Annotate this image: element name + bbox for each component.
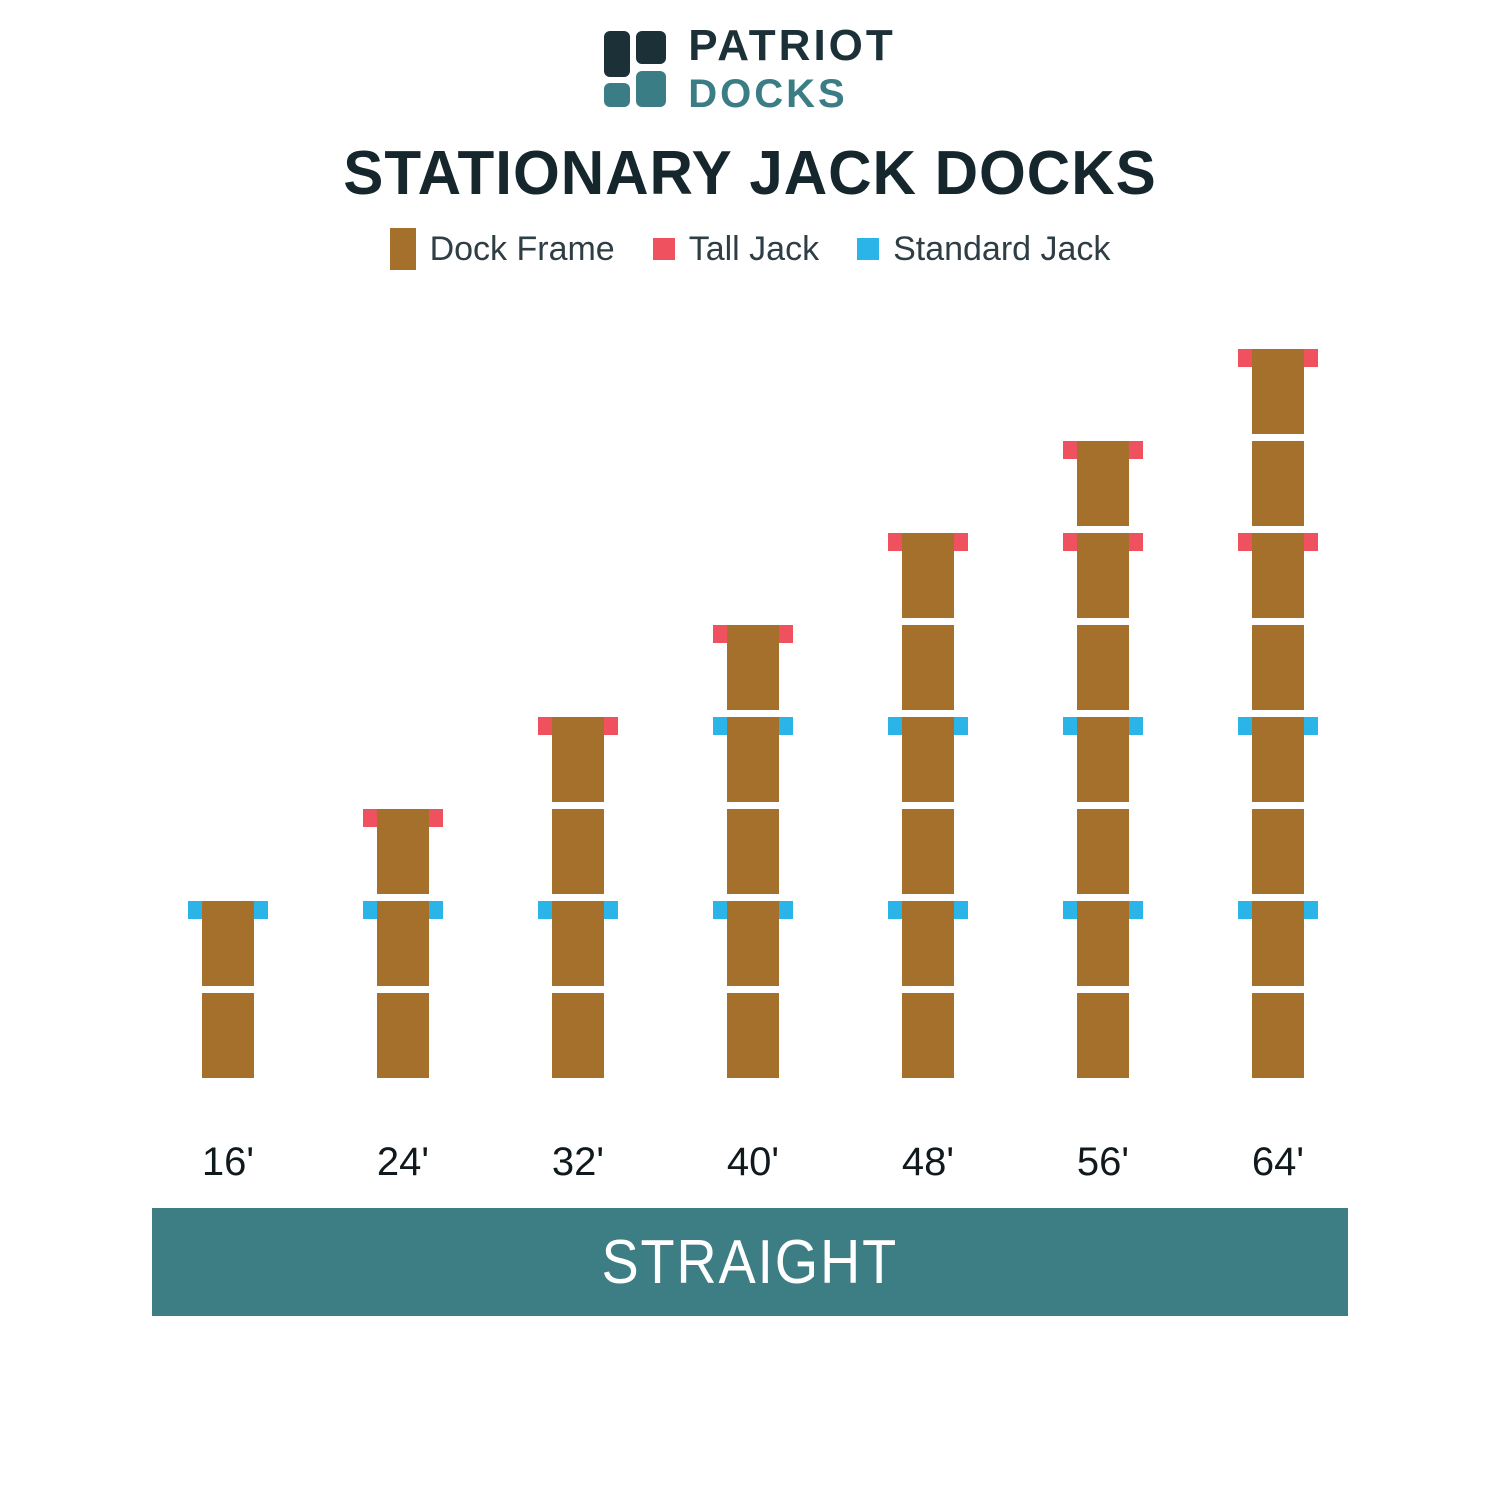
x-axis-label: 56' bbox=[1023, 1140, 1183, 1185]
dock-frame-section-overlay bbox=[552, 901, 604, 986]
dock-frame-section-overlay bbox=[902, 901, 954, 986]
dock-frame-section bbox=[1252, 809, 1304, 894]
dock-frame-section bbox=[727, 993, 779, 1078]
dock-frame-section-overlay bbox=[552, 717, 604, 802]
dock-column[interactable] bbox=[188, 0, 268, 1078]
dock-frame-section bbox=[1077, 809, 1129, 894]
dock-column[interactable] bbox=[1238, 0, 1318, 1078]
category-banner: STRAIGHT bbox=[152, 1208, 1348, 1316]
dock-column[interactable] bbox=[363, 0, 443, 1078]
dock-frame-section bbox=[552, 809, 604, 894]
dock-frame-section-overlay bbox=[727, 625, 779, 710]
x-axis-label: 32' bbox=[498, 1140, 658, 1185]
dock-column[interactable] bbox=[713, 0, 793, 1078]
dock-column[interactable] bbox=[1063, 0, 1143, 1078]
dock-frame-section-overlay bbox=[902, 533, 954, 618]
infographic-page: PATRIOT DOCKS STATIONARY JACK DOCKS Dock… bbox=[0, 0, 1500, 1500]
x-axis-label: 64' bbox=[1198, 1140, 1358, 1185]
dock-frame-section bbox=[377, 993, 429, 1078]
dock-column[interactable] bbox=[538, 0, 618, 1078]
dock-frame-section bbox=[202, 993, 254, 1078]
dock-frame-section bbox=[1252, 441, 1304, 526]
dock-frame-section-overlay bbox=[1077, 533, 1129, 618]
x-axis-label: 24' bbox=[323, 1140, 483, 1185]
dock-frame-section bbox=[1077, 625, 1129, 710]
dock-frame-section-overlay bbox=[1077, 901, 1129, 986]
dock-frame-section bbox=[1252, 625, 1304, 710]
dock-frame-section-overlay bbox=[1252, 717, 1304, 802]
banner-label: STRAIGHT bbox=[602, 1227, 899, 1298]
dock-frame-section bbox=[902, 625, 954, 710]
dock-column[interactable] bbox=[888, 0, 968, 1078]
dock-frame-section-overlay bbox=[727, 901, 779, 986]
dock-frame-section bbox=[1252, 993, 1304, 1078]
dock-frame-section bbox=[902, 809, 954, 894]
x-axis-label: 48' bbox=[848, 1140, 1008, 1185]
dock-frame-section-overlay bbox=[1252, 349, 1304, 434]
dock-frame-section-overlay bbox=[202, 901, 254, 986]
dock-frame-section bbox=[1077, 993, 1129, 1078]
dock-frame-section-overlay bbox=[727, 717, 779, 802]
dock-frame-section-overlay bbox=[1252, 533, 1304, 618]
dock-frame-section-overlay bbox=[1252, 901, 1304, 986]
x-axis-label: 40' bbox=[673, 1140, 833, 1185]
dock-frame-section bbox=[552, 993, 604, 1078]
dock-frame-section-overlay bbox=[1077, 717, 1129, 802]
dock-frame-section-overlay bbox=[1077, 441, 1129, 526]
dock-frame-section-overlay bbox=[377, 809, 429, 894]
dock-frame-section bbox=[727, 809, 779, 894]
dock-frame-section-overlay bbox=[377, 901, 429, 986]
dock-frame-section-overlay bbox=[902, 717, 954, 802]
x-axis-label: 16' bbox=[148, 1140, 308, 1185]
dock-frame-section bbox=[902, 993, 954, 1078]
